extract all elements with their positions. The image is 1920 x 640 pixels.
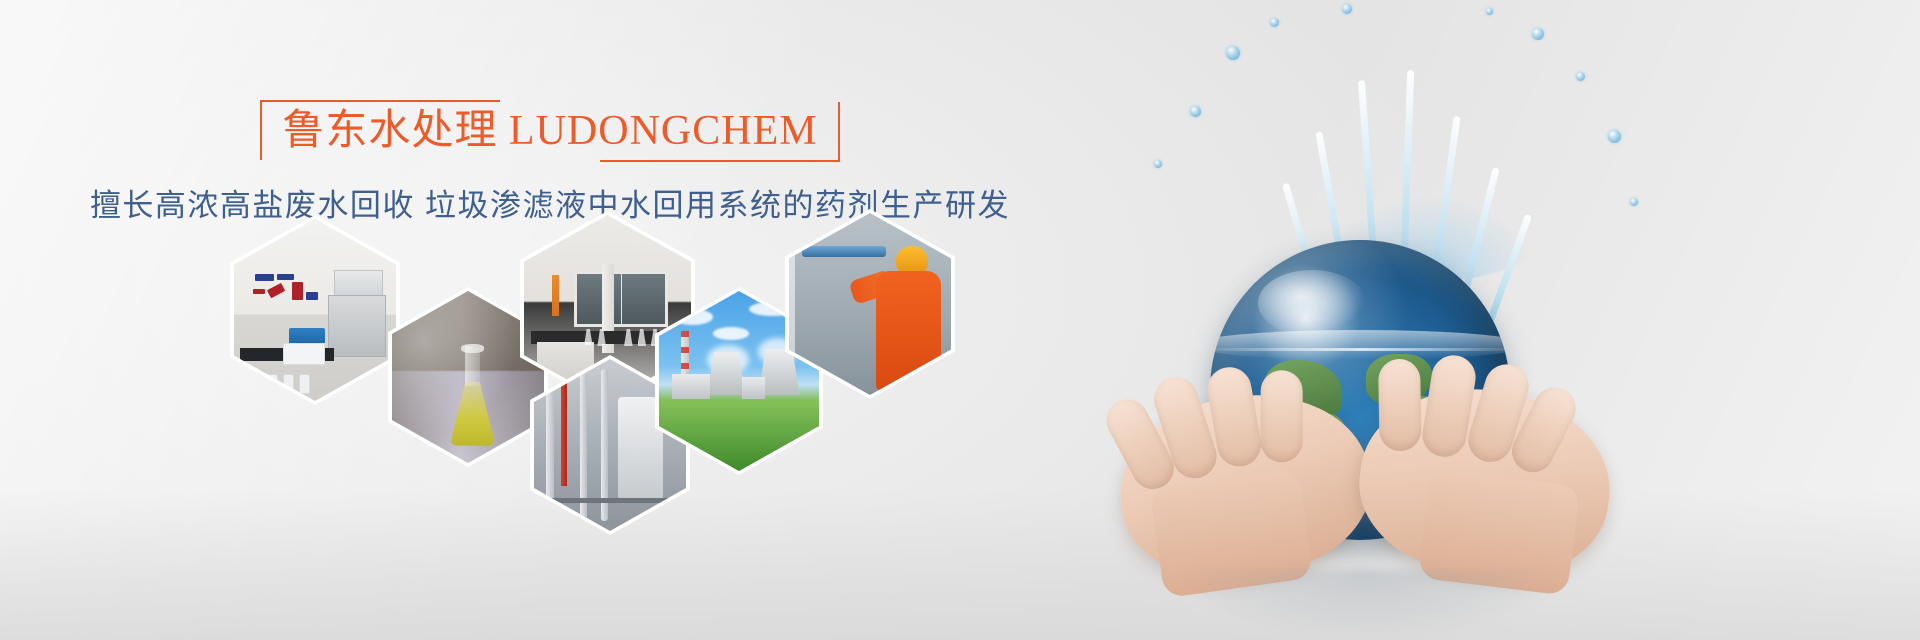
left-palm [1109, 379, 1382, 592]
floor-reflection [1180, 570, 1560, 640]
right-palm [1350, 375, 1621, 589]
bracket-right-icon [838, 102, 840, 162]
banner-copy: 鲁东水处理 LUDONGCHEM 擅长高浓高盐废水回收 垃圾渗滤液中水回用系统的… [0, 96, 1100, 226]
bracket-left-icon [260, 100, 262, 160]
wall-slogan-graphic [253, 274, 328, 314]
hex-tile-laboratory-room[interactable] [230, 215, 400, 405]
hero-banner: 鲁东水处理 LUDONGCHEM 擅长高浓高盐废水回收 垃圾渗滤液中水回用系统的… [0, 0, 1920, 640]
page-title: 鲁东水处理 LUDONGCHEM [282, 106, 817, 156]
title-bracket-frame: 鲁东水处理 LUDONGCHEM [260, 96, 839, 164]
photo-laboratory-room [234, 219, 396, 401]
hex-inner [234, 219, 396, 401]
hero-water-globe-image [1040, 0, 1920, 640]
hexagon-gallery [230, 215, 990, 515]
